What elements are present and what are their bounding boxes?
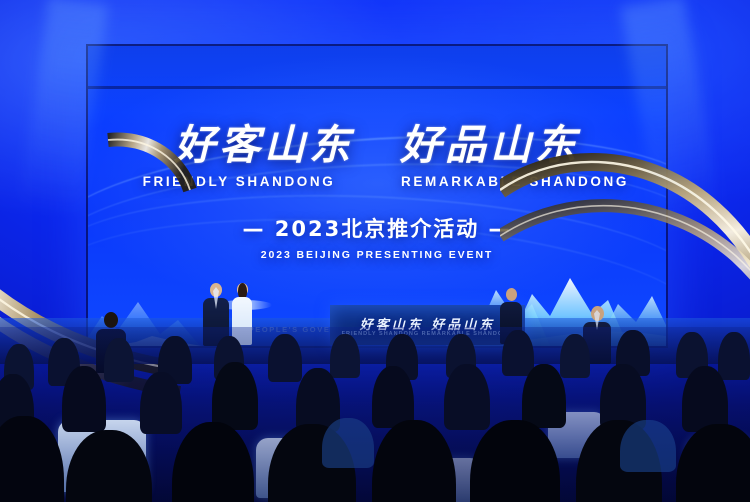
headline-chinese-row: 好客山东 好品山东 xyxy=(88,124,666,167)
headline-chinese-right: 好品山东 xyxy=(400,124,580,167)
audience-silhouette xyxy=(718,332,750,380)
audience-silhouette xyxy=(62,366,106,432)
audience-silhouette xyxy=(268,334,302,382)
audience-silhouette xyxy=(212,362,258,430)
led-backdrop-screen: 好客山东 好品山东 FRIENDLY SHANDONG REMARKABLE S… xyxy=(88,46,666,346)
audience-silhouette xyxy=(330,334,360,378)
audience-silhouette xyxy=(522,364,566,428)
audience-silhouette xyxy=(620,420,676,472)
screen-headline-block: 好客山东 好品山东 FRIENDLY SHANDONG REMARKABLE S… xyxy=(88,124,666,261)
shirt-front xyxy=(213,287,219,309)
event-photo: 好客山东 好品山东 FRIENDLY SHANDONG REMARKABLE S… xyxy=(0,0,750,502)
subtitle-chinese: — 2023北京推介活动 — xyxy=(88,213,666,243)
headline-english-left: FRIENDLY SHANDONG xyxy=(114,174,364,189)
audience-silhouette xyxy=(322,418,374,468)
audience-silhouette xyxy=(444,364,490,430)
audience-area xyxy=(0,327,750,502)
led-panel-seam xyxy=(88,86,666,89)
headline-chinese-left: 好客山东 xyxy=(174,124,354,167)
audience-silhouette xyxy=(104,338,134,382)
audience-silhouette xyxy=(372,366,414,428)
audience-silhouette xyxy=(140,372,182,434)
audience-silhouette xyxy=(502,330,534,376)
audience-silhouette xyxy=(560,334,590,378)
audience-silhouette xyxy=(682,366,728,432)
head xyxy=(506,288,517,301)
head xyxy=(104,312,118,328)
headline-english-row: FRIENDLY SHANDONG REMARKABLE SHANDONG xyxy=(88,174,666,189)
headline-english-right: REMARKABLE SHANDONG xyxy=(390,174,640,189)
